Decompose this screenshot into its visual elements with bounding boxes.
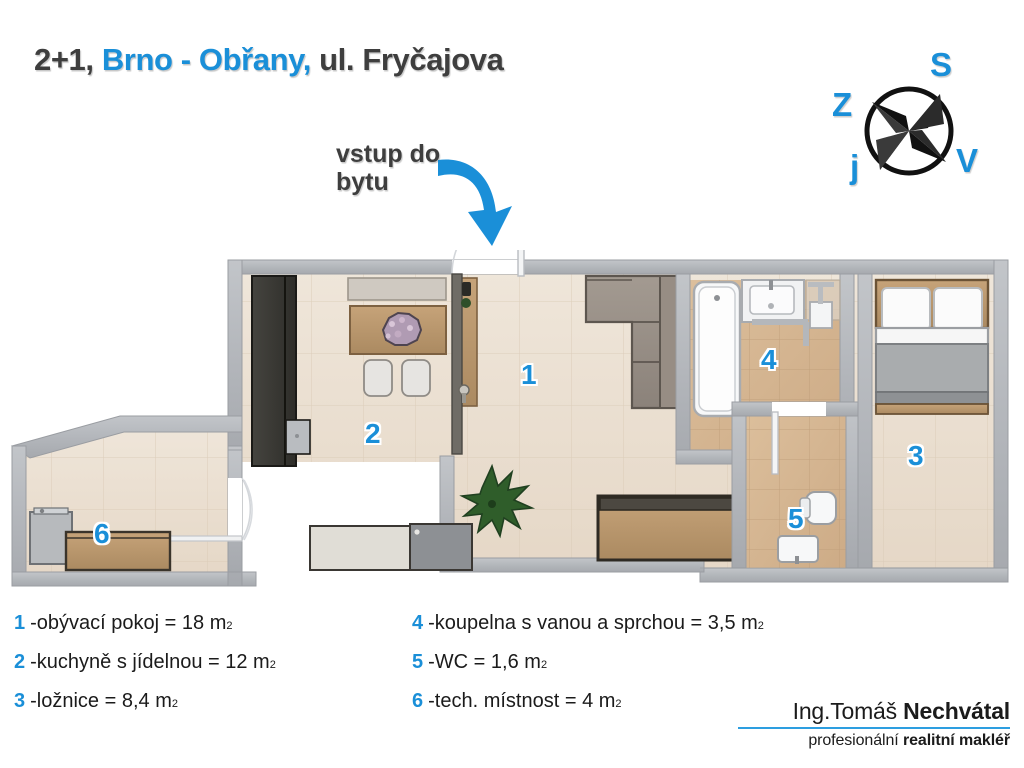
legend-number-1: 1 xyxy=(14,612,25,635)
compass-rose: S Z V j xyxy=(826,44,1006,209)
agent-name-surname: Nechvátal xyxy=(903,698,1010,724)
wc-door-opening xyxy=(772,402,826,416)
utility-counter xyxy=(66,532,170,570)
agent-name-prefix: Ing.Tomáš xyxy=(793,698,904,724)
legend-item-1: 1 - obývací pokoj = 18 m2 xyxy=(14,612,276,635)
legend-item-5: 5 - WC = 1,6 m2 xyxy=(412,651,764,674)
legend-text-5: WC = 1,6 m xyxy=(435,651,541,674)
compass-label-west: Z xyxy=(832,86,852,124)
signature-divider xyxy=(738,727,1010,729)
page-title: 2+1, Brno - Obřany, ul. Fryčajova xyxy=(34,42,503,78)
floor-plan-drawing xyxy=(0,250,1024,595)
legend-item-2: 2 - kuchyně s jídelnou = 12 m2 xyxy=(14,651,276,674)
double-bed xyxy=(876,280,988,414)
agent-name: Ing.Tomáš Nechvátal xyxy=(738,698,1010,725)
dining-table xyxy=(348,278,446,354)
legend-item-3: 3 - ložnice = 8,4 m2 xyxy=(14,690,276,713)
curved-arrow-icon xyxy=(434,150,524,260)
entry-door xyxy=(452,250,524,276)
kitchen-counter-lower xyxy=(310,524,472,570)
legend-number-3: 3 xyxy=(14,690,25,713)
entrance-label-line2: bytu xyxy=(336,168,440,196)
title-part-location: Brno - Obřany, xyxy=(102,42,311,77)
legend-sup-3: 2 xyxy=(172,698,178,710)
dining-chair-right xyxy=(402,360,430,396)
legend-number-4: 4 xyxy=(412,612,423,635)
bathtub xyxy=(694,282,740,416)
legend-text-3: ložnice = 8,4 m xyxy=(37,690,172,713)
legend-number-6: 6 xyxy=(412,690,423,713)
wc-washbasin xyxy=(778,536,818,564)
entrance-label-line1: vstup do xyxy=(336,140,440,168)
legend-text-1: obývací pokoj = 18 m xyxy=(37,612,227,635)
legend-sup-5: 2 xyxy=(541,659,547,671)
title-part-street: ul. Fryčajova xyxy=(311,42,504,77)
agent-signature: Ing.Tomáš Nechvátal profesionální realit… xyxy=(738,698,1010,750)
wc-room xyxy=(732,402,860,568)
agent-role-prefix: profesionální xyxy=(808,732,903,749)
room-number-5: 5 xyxy=(788,503,804,535)
legend-column-right: 4 - koupelna s vanou a sprchou = 3,5 m2 … xyxy=(412,612,764,729)
legend-dash-2: - xyxy=(30,651,37,674)
legend-dash-3: - xyxy=(30,690,37,713)
legend-item-4: 4 - koupelna s vanou a sprchou = 3,5 m2 xyxy=(412,612,764,635)
legend-dash-6: - xyxy=(428,690,435,713)
compass-rose-icon xyxy=(854,76,964,186)
legend-dash-5: - xyxy=(428,651,435,674)
sideboard-cabinet xyxy=(598,496,750,560)
flower-centerpiece xyxy=(383,313,421,345)
legend-sup-6: 2 xyxy=(615,698,621,710)
bedroom-divider-wall xyxy=(858,274,872,568)
legend-number-5: 5 xyxy=(412,651,423,674)
room-number-1: 1 xyxy=(521,359,537,391)
legend-text-6: tech. místnost = 4 m xyxy=(435,690,616,713)
dining-chair-left xyxy=(364,360,392,396)
room-number-4: 4 xyxy=(761,344,777,376)
legend-sup-1: 2 xyxy=(226,620,232,632)
washbasin xyxy=(742,280,804,322)
legend-dash-1: - xyxy=(30,612,37,635)
legend-item-6: 6 - tech. místnost = 4 m2 xyxy=(412,690,764,713)
agent-role-bold: realitní makléř xyxy=(903,732,1010,749)
legend-dash-4: - xyxy=(428,612,435,635)
legend-text-2: kuchyně s jídelnou = 12 m xyxy=(37,651,270,674)
entrance-annotation-label: vstup do bytu xyxy=(336,140,440,196)
room-number-2: 2 xyxy=(365,418,381,450)
legend-text-4: koupelna s vanou a sprchou = 3,5 m xyxy=(435,612,758,635)
agent-role: profesionální realitní makléř xyxy=(738,732,1010,750)
room-number-3: 3 xyxy=(908,440,924,472)
floorplan-page: 2+1, Brno - Obřany, ul. Fryčajova S Z V … xyxy=(0,0,1024,768)
legend-number-2: 2 xyxy=(14,651,25,674)
legend-sup-4: 2 xyxy=(758,620,764,632)
legend-sup-2: 2 xyxy=(270,659,276,671)
room-number-6: 6 xyxy=(94,518,110,550)
title-part-type: 2+1, xyxy=(34,42,102,77)
legend-column-left: 1 - obývací pokoj = 18 m2 2 - kuchyně s … xyxy=(14,612,276,729)
